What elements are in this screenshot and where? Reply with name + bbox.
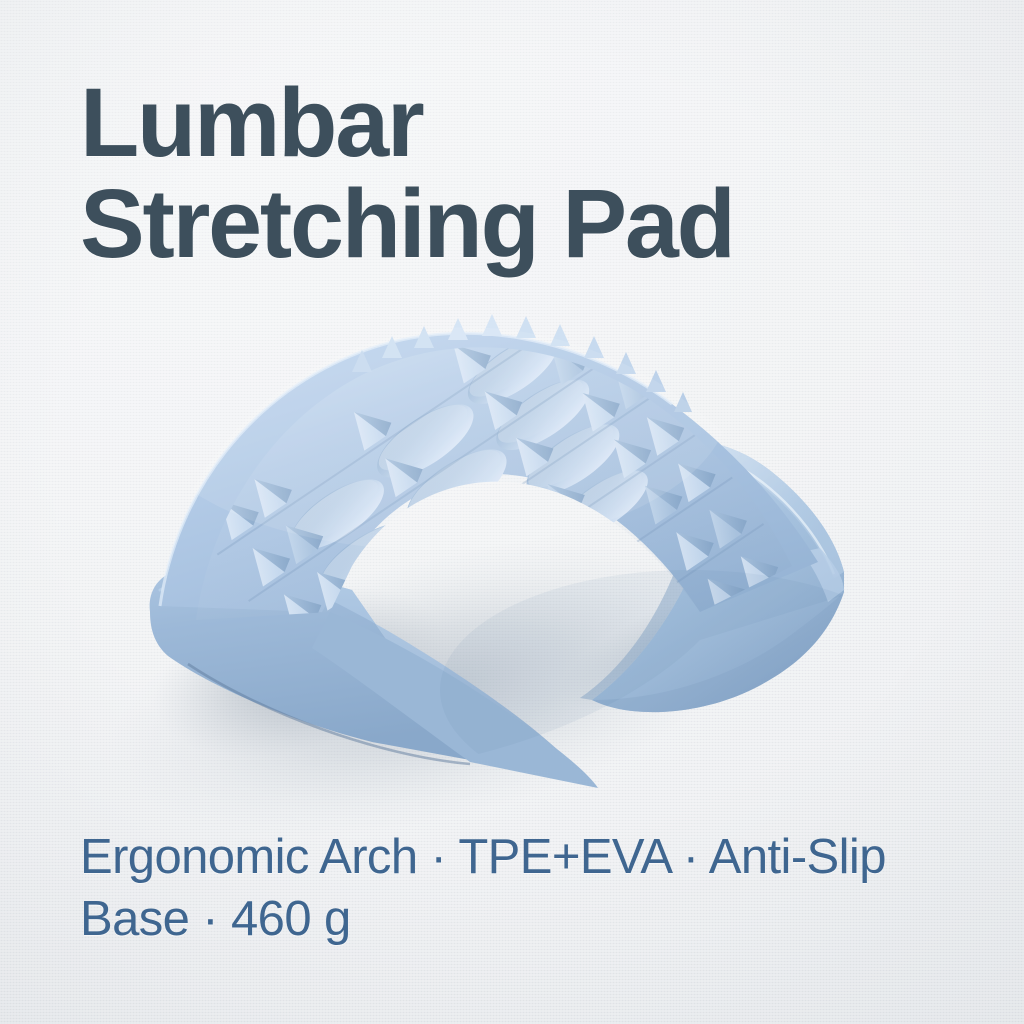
product-spec-caption: Ergonomic Arch · TPE+EVA · Anti-Slip Bas… bbox=[80, 826, 960, 950]
product-title: Lumbar Stretching Pad bbox=[80, 72, 920, 274]
title-line-1: Lumbar bbox=[80, 72, 920, 173]
title-line-2: Stretching Pad bbox=[80, 173, 920, 274]
spec-line-1: Ergonomic Arch · TPE+EVA · Anti-Slip bbox=[80, 826, 960, 888]
spec-line-2: Base · 460 g bbox=[80, 888, 960, 950]
product-hero-canvas: Lumbar Stretching Pad Ergonomic Arch · T… bbox=[0, 0, 1024, 1024]
